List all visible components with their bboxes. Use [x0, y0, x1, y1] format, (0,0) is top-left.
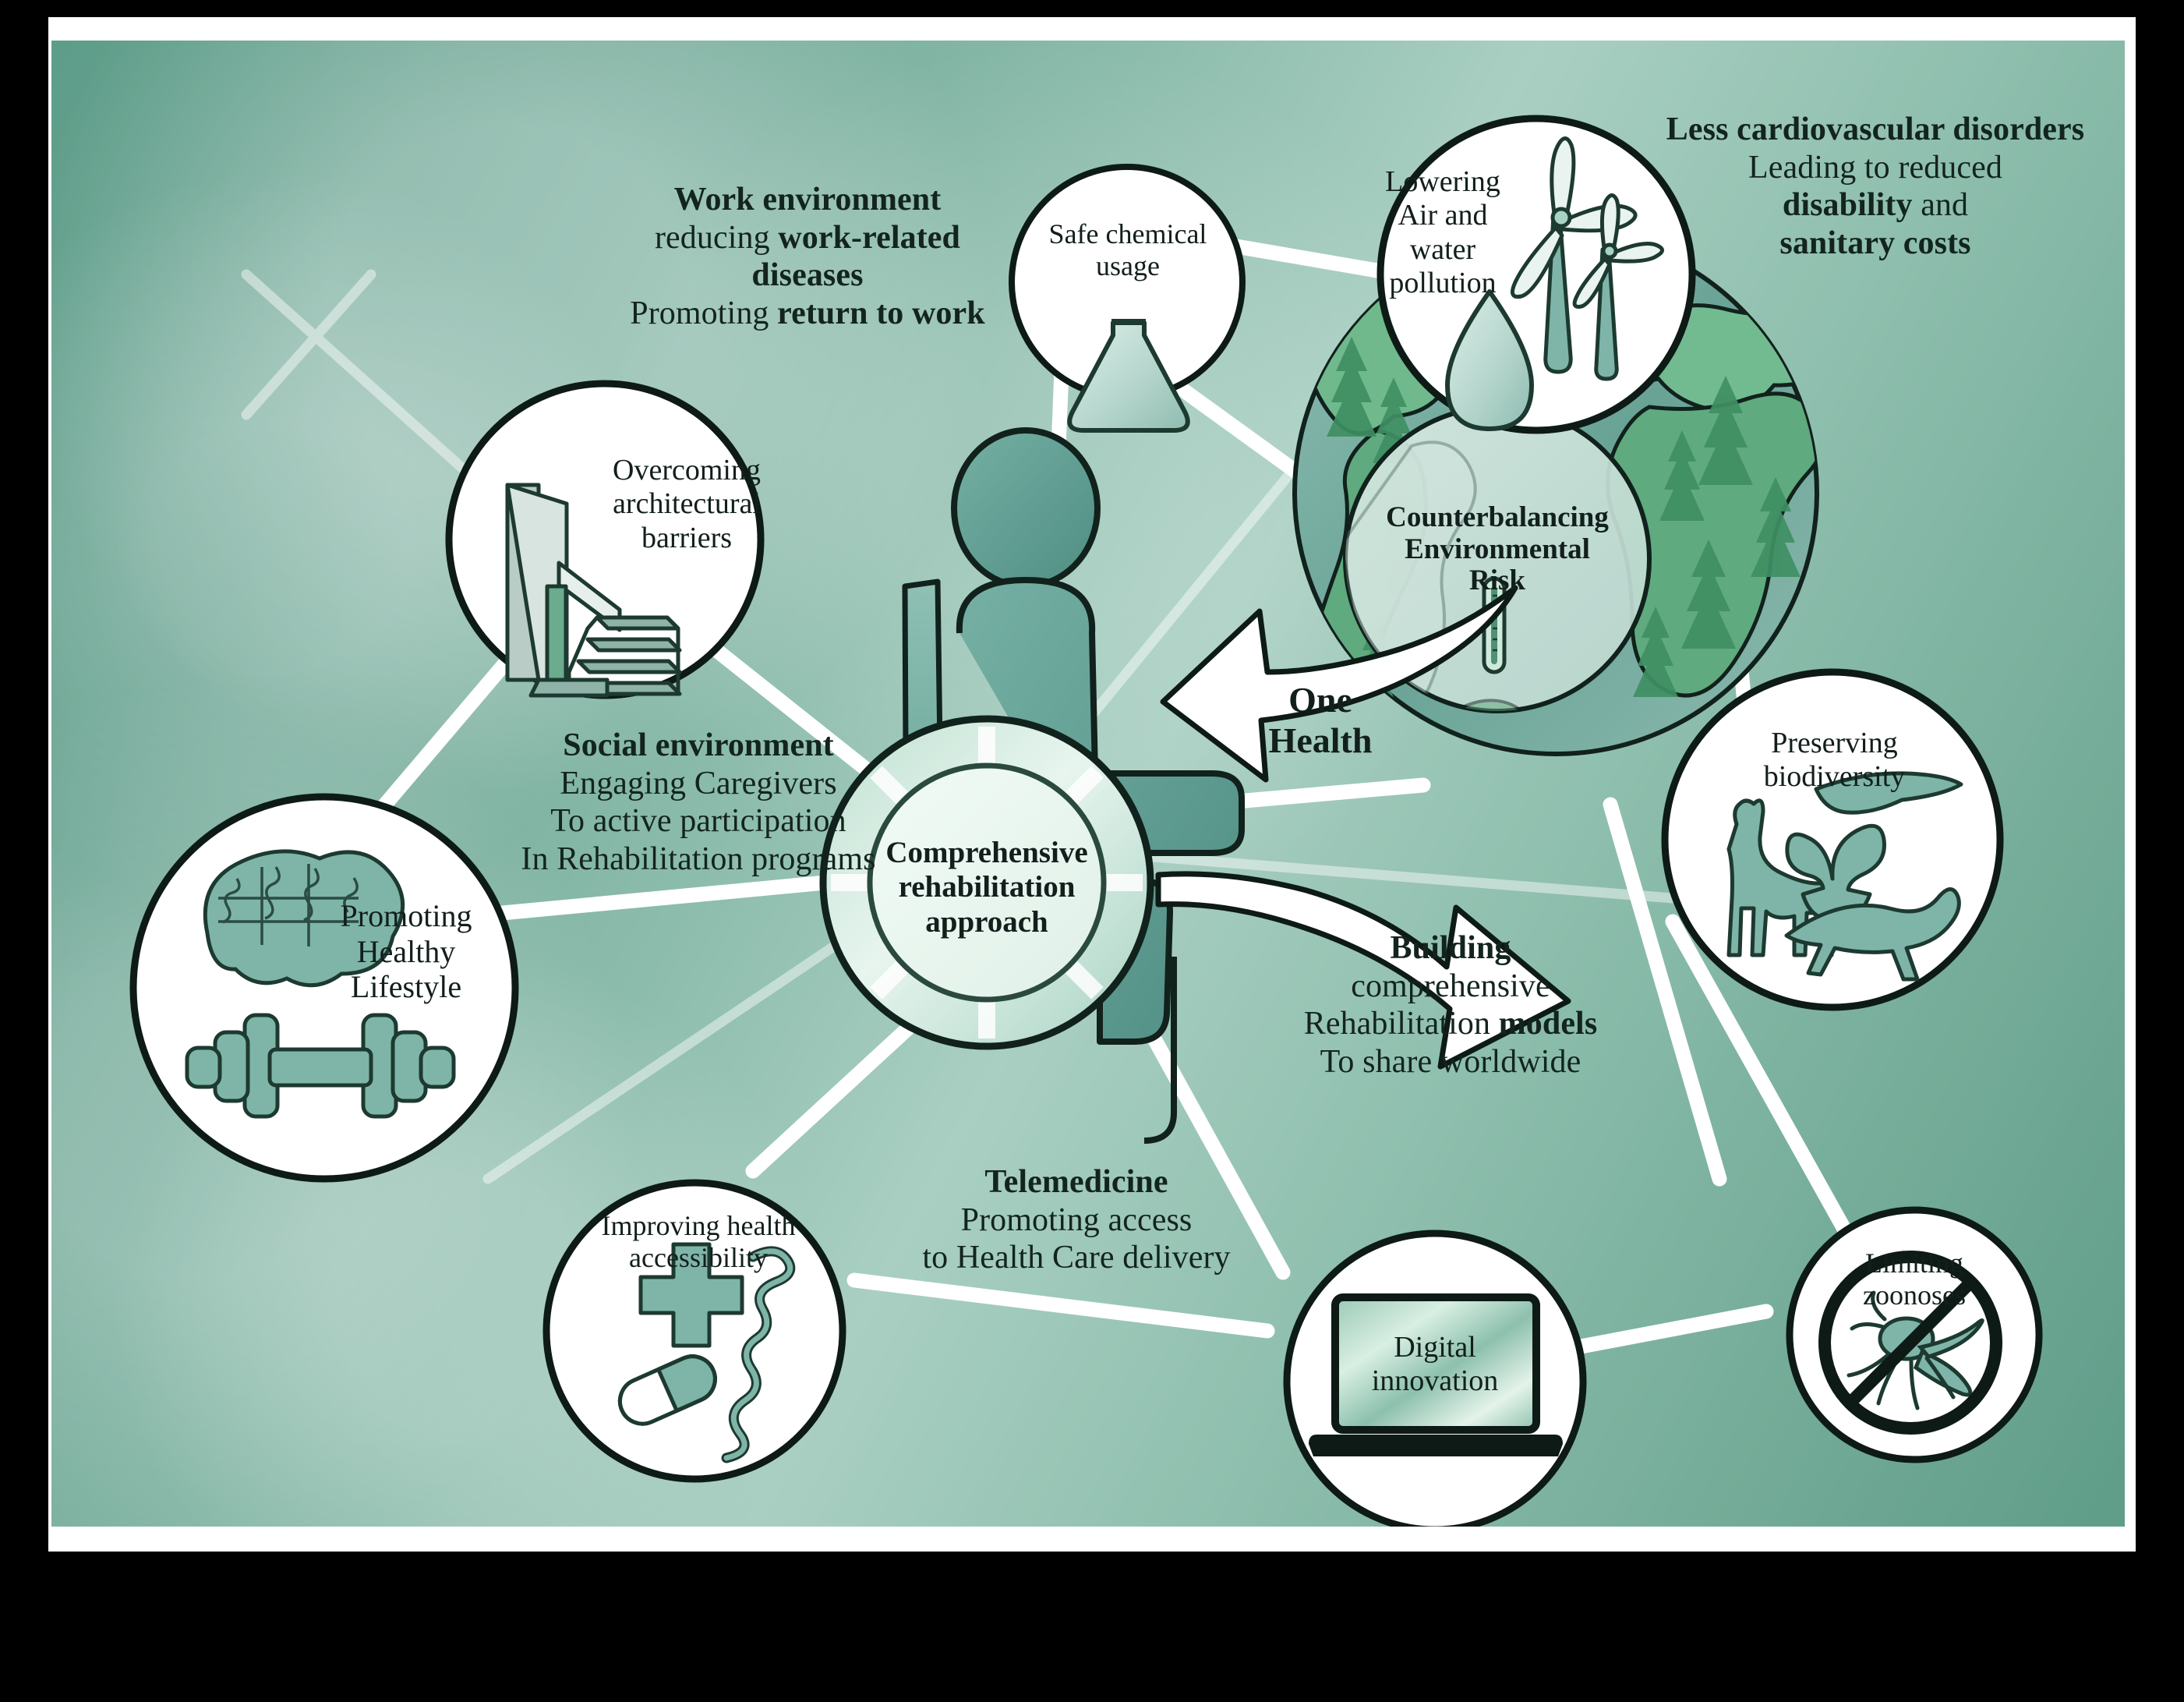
text-block-work-environment: Work environmentreducing work-relateddis… [624, 181, 991, 333]
text-run-bold: work-related [778, 220, 960, 256]
text-run: Leading to reduced [1748, 150, 2002, 186]
text-block-less-cardiovascular-disorders: Less cardiovascular disordersLeading to … [1657, 111, 2094, 263]
text-run: reducing [655, 220, 778, 256]
text-run-bold: models [1499, 1006, 1598, 1042]
text-line: Telemedicine [893, 1163, 1260, 1201]
text-line: Leading to reduced [1657, 149, 2094, 187]
text-line: To active participation [496, 802, 901, 840]
text-run: to Health Care delivery [922, 1240, 1230, 1276]
text-block-social-environment: Social environmentEngaging CaregiversTo … [496, 727, 901, 879]
text-run: To share worldwide [1320, 1044, 1581, 1080]
text-run: In Rehabilitation programs [521, 841, 875, 877]
node-promoting-healthy-lifestyle[interactable] [133, 797, 515, 1179]
text-line: In Rehabilitation programs [496, 840, 901, 879]
text-run-bold: Work environment [674, 182, 942, 218]
text-line: sanitary costs [1657, 225, 2094, 263]
text-block-building-rehabilitation-models: BuildingcomprehensiveRehabilitation mode… [1267, 929, 1634, 1081]
node-digital-innovation[interactable] [1287, 1233, 1583, 1527]
node-lowering-pollution[interactable] [1380, 119, 1692, 430]
text-run: Promoting access [961, 1202, 1193, 1238]
text-run: Promoting [630, 295, 777, 331]
text-run-bold: Social environment [563, 727, 834, 763]
text-line: Less cardiovascular disorders [1657, 111, 2094, 149]
text-line: Work environment [624, 181, 991, 219]
node-overcoming-architectural-barriers[interactable] [449, 384, 761, 695]
text-run: To active participation [550, 803, 846, 839]
diagram-svg [51, 41, 2125, 1527]
text-line: To share worldwide [1267, 1043, 1634, 1081]
text-line: diseases [624, 257, 991, 295]
text-line: reducing work-related [624, 219, 991, 257]
text-line: Promoting access [893, 1201, 1260, 1240]
text-run: Engaging Caregivers [560, 766, 836, 801]
text-line: Promoting return to work [624, 295, 991, 333]
text-run-bold: diseases [751, 257, 863, 293]
text-line: disability and [1657, 186, 2094, 225]
text-line: Building [1267, 929, 1634, 968]
text-run-bold: return to work [777, 295, 985, 331]
text-run-bold: disability [1783, 187, 1913, 223]
node-improving-health-accessibility[interactable] [546, 1183, 843, 1479]
figure-canvas: Safe chemical usage Lowering Air and wat… [51, 41, 2125, 1527]
text-line: Engaging Caregivers [496, 765, 901, 803]
text-run-bold: Telemedicine [984, 1164, 1168, 1200]
text-run: and [1913, 187, 1969, 223]
text-run: comprehensive [1351, 968, 1550, 1004]
text-line: comprehensive [1267, 968, 1634, 1006]
text-run: Rehabilitation [1304, 1006, 1499, 1042]
node-preserving-biodiversity[interactable] [1665, 672, 2000, 1007]
figure-frame: Safe chemical usage Lowering Air and wat… [0, 0, 2184, 1702]
text-line: to Health Care delivery [893, 1239, 1260, 1277]
text-block-telemedicine: TelemedicinePromoting accessto Health Ca… [893, 1163, 1260, 1277]
text-run-bold: Building [1391, 930, 1511, 966]
text-line: Social environment [496, 727, 901, 765]
node-safe-chemical-usage[interactable] [1012, 167, 1242, 430]
text-line: Rehabilitation models [1267, 1005, 1634, 1043]
text-run-bold: Less cardiovascular disorders [1666, 111, 2084, 147]
node-limiting-zoonoses[interactable] [1790, 1210, 2039, 1460]
laptop-icon [1309, 1297, 1563, 1456]
text-run-bold: sanitary costs [1779, 225, 1970, 261]
